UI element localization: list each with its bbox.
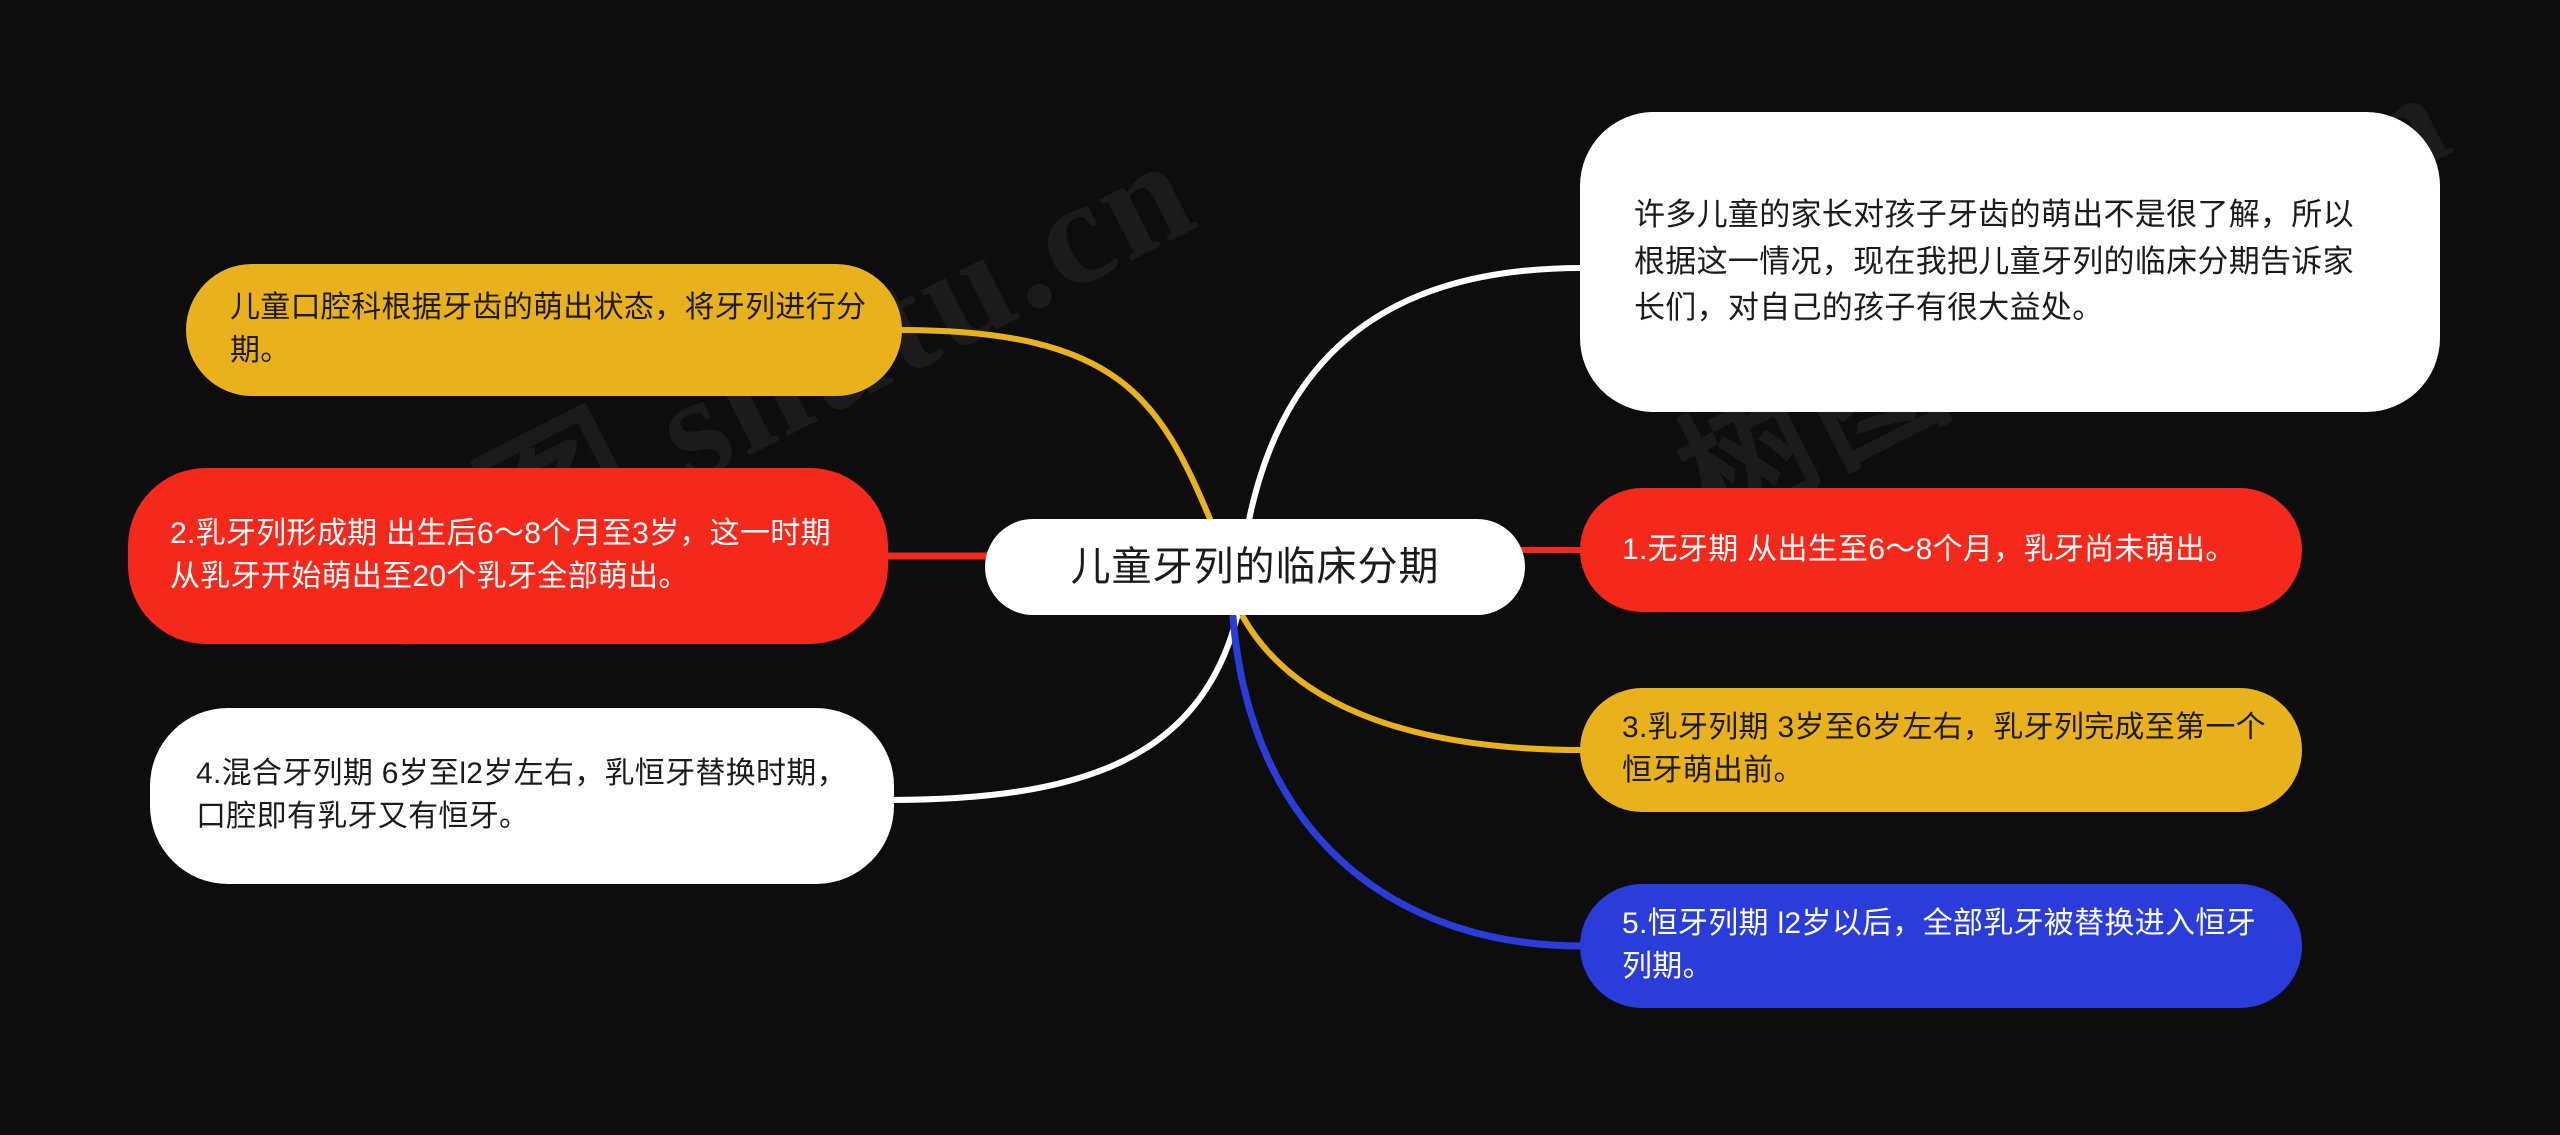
branch-node-stage-2[interactable]: 2.乳牙列形成期 出生后6～8个月至3岁，这一时期从乳牙开始萌出至20个乳牙全部…: [128, 468, 888, 644]
branch-node-stage-3[interactable]: 3.乳牙列期 3岁至6岁左右，乳牙列完成至第一个恒牙萌出前。: [1580, 688, 2302, 812]
branch-node-stage-3-label: 3.乳牙列期 3岁至6岁左右，乳牙列完成至第一个恒牙萌出前。: [1622, 707, 2272, 792]
edge-method: [900, 330, 1210, 519]
mindmap-canvas: 树图 shutu.cn 树图 shutu.cn 儿童牙列的临床分期 许多儿童的家…: [0, 0, 2560, 1135]
branch-node-method-label: 儿童口腔科根据牙齿的萌出状态，将牙列进行分期。: [230, 287, 872, 372]
branch-node-method[interactable]: 儿童口腔科根据牙齿的萌出状态，将牙列进行分期。: [186, 264, 902, 396]
branch-node-stage-5[interactable]: 5.恒牙列期 l2岁以后，全部乳牙被替换进入恒牙列期。: [1580, 884, 2302, 1008]
branch-node-stage-4-label: 4.混合牙列期 6岁至l2岁左右，乳恒牙替换时期，口腔即有乳牙又有恒牙。: [196, 753, 854, 838]
root-node-label: 儿童牙列的临床分期: [1015, 539, 1495, 596]
root-node-clinical-staging[interactable]: 儿童牙列的临床分期: [985, 519, 1525, 615]
branch-node-stage-1[interactable]: 1.无牙期 从出生至6～8个月，乳牙尚未萌出。: [1580, 488, 2302, 612]
edge-stage4: [888, 617, 1237, 800]
branch-node-stage-4[interactable]: 4.混合牙列期 6岁至l2岁左右，乳恒牙替换时期，口腔即有乳牙又有恒牙。: [150, 708, 894, 884]
branch-node-intro[interactable]: 许多儿童的家长对孩子牙齿的萌出不是很了解，所以根据这一情况，现在我把儿童牙列的临…: [1580, 112, 2440, 412]
branch-node-stage-1-label: 1.无牙期 从出生至6～8个月，乳牙尚未萌出。: [1622, 529, 2272, 572]
branch-node-stage-2-label: 2.乳牙列形成期 出生后6～8个月至3岁，这一时期从乳牙开始萌出至20个乳牙全部…: [170, 513, 858, 598]
branch-node-stage-5-label: 5.恒牙列期 l2岁以后，全部乳牙被替换进入恒牙列期。: [1622, 903, 2272, 988]
branch-node-intro-label: 许多儿童的家长对孩子牙齿的萌出不是很了解，所以根据这一情况，现在我把儿童牙列的临…: [1634, 192, 2382, 332]
edge-stage3: [1243, 617, 1582, 750]
